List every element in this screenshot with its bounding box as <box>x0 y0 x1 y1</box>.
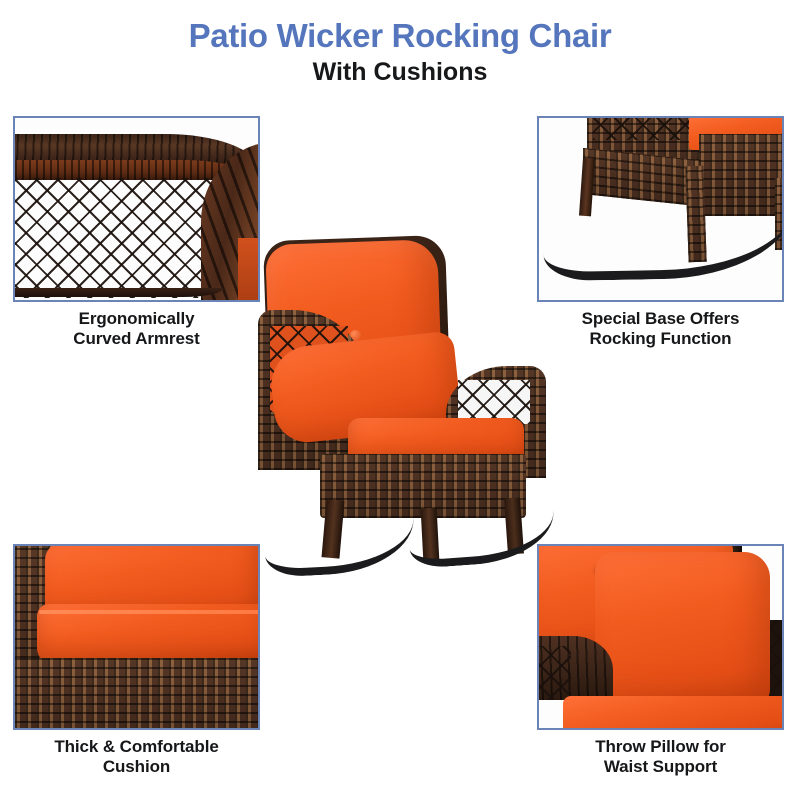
caption-line-2: Curved Armrest <box>13 329 260 349</box>
armrest-bottom-rim <box>13 288 223 297</box>
armrest-photo <box>15 118 258 300</box>
rocker-runner <box>542 156 784 281</box>
feature-panel-rocking-base: Special Base Offers Rocking Function <box>537 116 784 348</box>
rocking-base-photo <box>539 118 782 300</box>
feature-panel-throw-pillow: Throw Pillow for Waist Support <box>537 544 784 776</box>
right-rocker-runner <box>405 477 556 569</box>
caption-line-2: Waist Support <box>537 757 784 777</box>
armrest-lattice-mesh <box>13 178 217 298</box>
cushion-piping <box>39 610 260 614</box>
header: Patio Wicker Rocking Chair With Cushions <box>0 0 800 104</box>
feature-panel-thick-cushion: Thick & Comfortable Cushion <box>13 544 260 776</box>
panel-image-frame <box>13 544 260 730</box>
panel-caption: Ergonomically Curved Armrest <box>13 302 260 348</box>
cushion-edge-sliver <box>238 238 260 302</box>
page-subtitle: With Cushions <box>0 54 800 87</box>
caption-line-1: Throw Pillow for <box>537 737 784 757</box>
hero-product-image <box>258 232 550 562</box>
bottom-wicker-frame <box>15 658 260 730</box>
left-rocker-runner <box>262 486 416 578</box>
panel-image-frame <box>537 116 784 302</box>
caption-line-1: Special Base Offers <box>537 309 784 329</box>
seat-cushion <box>563 696 784 730</box>
caption-line-1: Ergonomically <box>13 309 260 329</box>
seat-lattice-strip <box>593 116 693 140</box>
page-title: Patio Wicker Rocking Chair <box>0 0 800 54</box>
caption-line-1: Thick & Comfortable <box>13 737 260 757</box>
panel-image-frame <box>537 544 784 730</box>
throw-pillow <box>595 552 770 704</box>
feature-panel-ergonomic-armrest: Ergonomically Curved Armrest <box>13 116 260 348</box>
panel-caption: Special Base Offers Rocking Function <box>537 302 784 348</box>
throw-pillow-photo <box>539 546 782 728</box>
panel-caption: Thick & Comfortable Cushion <box>13 730 260 776</box>
left-armrest-lattice <box>537 646 571 700</box>
panel-image-frame <box>13 116 260 302</box>
panel-caption: Throw Pillow for Waist Support <box>537 730 784 776</box>
caption-line-2: Rocking Function <box>537 329 784 349</box>
thick-cushion-photo <box>15 546 258 728</box>
caption-line-2: Cushion <box>13 757 260 777</box>
